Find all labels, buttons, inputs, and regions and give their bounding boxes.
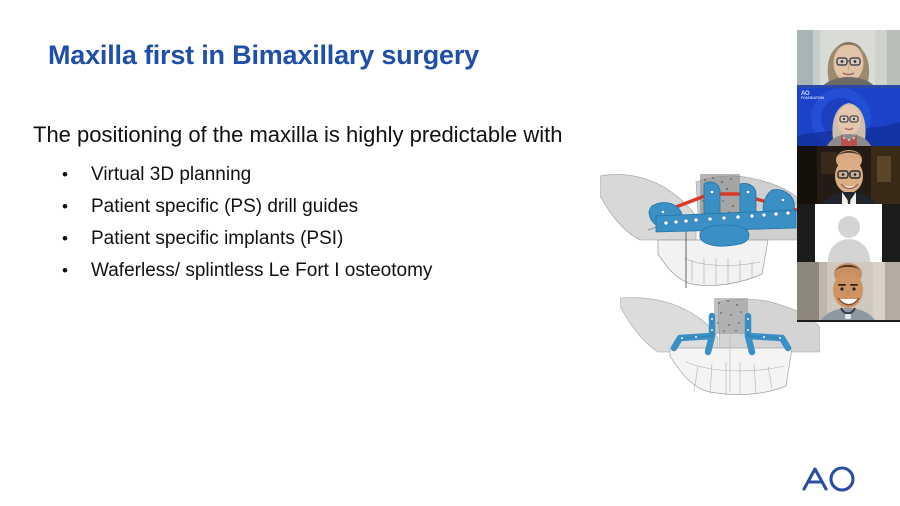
list-item-label: Waferless/ splintless Le Fort I osteotom…	[91, 260, 432, 282]
participant-tile-1[interactable]	[797, 30, 900, 88]
list-item: • Virtual 3D planning	[62, 163, 432, 195]
avatar-body-icon	[828, 239, 870, 262]
list-item-label: Patient specific (PS) drill guides	[91, 196, 358, 218]
bullet-dot-icon: •	[62, 227, 91, 247]
participant-3-video	[797, 146, 900, 204]
slide-title: Maxilla first in Bimaxillary surgery	[48, 40, 479, 71]
bullet-dot-icon: •	[62, 163, 91, 183]
3d-skull-psi-plates-image	[620, 296, 820, 396]
list-item: • Patient specific (PS) drill guides	[62, 195, 432, 227]
participant-5-video	[797, 262, 900, 320]
bullet-dot-icon: •	[62, 259, 91, 279]
participant-1-video	[797, 30, 900, 88]
list-item-label: Patient specific implants (PSI)	[91, 228, 343, 250]
avatar-head-icon	[838, 216, 860, 238]
ao-virtual-background-logo: AOFOUNDATION	[801, 91, 824, 101]
participant-tile-4[interactable]	[797, 204, 900, 262]
participant-tile-3[interactable]	[797, 146, 900, 204]
bullet-dot-icon: •	[62, 195, 91, 215]
bullet-list: • Virtual 3D planning • Patient specific…	[62, 163, 432, 291]
list-item-label: Virtual 3D planning	[91, 164, 251, 186]
list-item: • Waferless/ splintless Le Fort I osteot…	[62, 259, 432, 291]
ao-brand-logo	[800, 464, 858, 494]
presentation-slide: Maxilla first in Bimaxillary surgery The…	[0, 0, 900, 506]
list-item: • Patient specific implants (PSI)	[62, 227, 432, 259]
slide-lead-text: The positioning of the maxilla is highly…	[33, 122, 563, 148]
participant-tile-2[interactable]: AOFOUNDATION	[797, 88, 900, 146]
3d-skull-drill-guide-image	[600, 170, 800, 292]
avatar	[815, 204, 882, 262]
participant-tile-5[interactable]	[797, 262, 900, 320]
participant-filmstrip[interactable]: AOFOUNDATION	[797, 30, 900, 322]
